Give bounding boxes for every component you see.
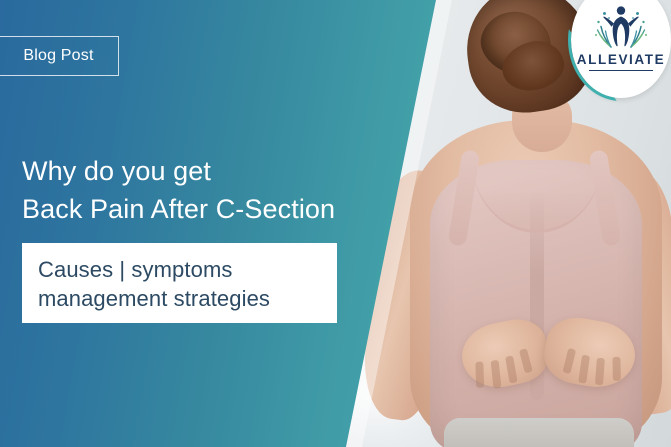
person-with-raised-arms-icon bbox=[593, 6, 649, 50]
subtitle-line-2: management strategies bbox=[38, 284, 337, 313]
subtitle-line-1: Causes | symptoms bbox=[38, 255, 337, 284]
logo-wordmark: ALLEVIATE bbox=[571, 52, 671, 67]
blog-post-badge: Blog Post bbox=[0, 36, 119, 76]
alleviate-logo[interactable]: ALLEVIATE bbox=[571, 0, 671, 98]
logo-tagline bbox=[589, 70, 653, 72]
blog-post-badge-label: Blog Post bbox=[17, 47, 93, 65]
blog-post-banner: Blog Post Why do you get Back Pain After… bbox=[0, 0, 671, 447]
photo-trousers bbox=[444, 418, 634, 447]
headline-line-2: Back Pain After C-Section bbox=[22, 190, 335, 228]
headline-line-1: Why do you get bbox=[22, 152, 335, 190]
headline: Why do you get Back Pain After C-Section bbox=[22, 152, 335, 228]
subtitle-box: Causes | symptoms management strategies bbox=[22, 243, 337, 323]
